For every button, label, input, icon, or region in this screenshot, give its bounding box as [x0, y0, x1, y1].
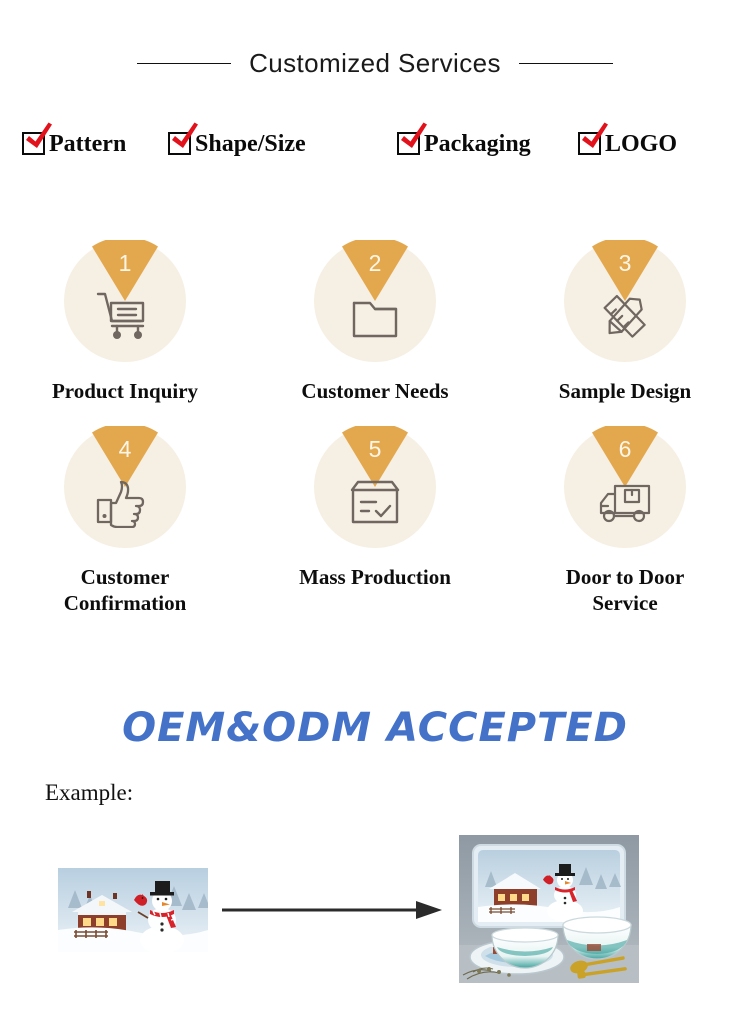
step-sample-design[interactable]: 3 Sam [500, 240, 750, 404]
thumbs-up-icon [95, 476, 155, 528]
result-product-image [459, 835, 639, 983]
step-label-4: Customer Confirmation [64, 564, 187, 616]
step-label-3: Sample Design [559, 378, 691, 404]
step-badge-5: 5 [314, 426, 436, 548]
step-number-3: 3 [564, 252, 686, 275]
option-label-logo: LOGO [605, 132, 677, 156]
step-label-5: Mass Production [299, 564, 451, 590]
option-logo[interactable]: LOGO [578, 132, 677, 156]
option-shape-size[interactable]: Shape/Size [168, 132, 306, 156]
process-steps: 1 Product Inquiry [0, 240, 750, 616]
check-icon [22, 121, 56, 155]
checkbox-pattern[interactable] [22, 132, 45, 155]
step-label-2: Customer Needs [301, 378, 448, 404]
process-steps-row-1: 1 Product Inquiry [0, 240, 750, 404]
folder-icon [345, 290, 405, 342]
option-label-pattern: Pattern [49, 132, 126, 156]
page-header: Customized Services [0, 48, 750, 79]
check-icon [578, 121, 612, 155]
step-label-1: Product Inquiry [52, 378, 198, 404]
step-customer-confirmation[interactable]: 4 Customer Confirmation [0, 426, 250, 616]
option-pattern[interactable]: Pattern [22, 132, 126, 156]
page-title: Customized Services [249, 48, 501, 79]
step-number-6: 6 [564, 438, 686, 461]
option-packaging[interactable]: Packaging [397, 132, 531, 156]
shopping-cart-icon [95, 290, 155, 342]
box-check-icon [345, 476, 405, 528]
source-artwork-image [58, 868, 208, 952]
right-arrow-icon [222, 900, 444, 922]
step-badge-6: 6 [564, 426, 686, 548]
step-number-5: 5 [314, 438, 436, 461]
step-customer-needs[interactable]: 2 Customer Needs [250, 240, 500, 404]
transform-arrow [222, 900, 444, 922]
step-label-6: Door to Door Service [566, 564, 685, 616]
option-label-packaging: Packaging [424, 132, 531, 156]
step-mass-production[interactable]: 5 Mass Production [250, 426, 500, 616]
step-badge-3: 3 [564, 240, 686, 362]
header-rule-left [137, 63, 231, 64]
step-product-inquiry[interactable]: 1 Product Inquiry [0, 240, 250, 404]
step-badge-2: 2 [314, 240, 436, 362]
header-rule-right [519, 63, 613, 64]
step-number-4: 4 [64, 438, 186, 461]
customization-options-row: Pattern Shape/Size Packaging [0, 132, 750, 174]
checkbox-packaging[interactable] [397, 132, 420, 155]
step-number-2: 2 [314, 252, 436, 275]
option-label-shape-size: Shape/Size [195, 132, 306, 156]
check-icon [168, 121, 202, 155]
step-badge-4: 4 [64, 426, 186, 548]
checkbox-shape-size[interactable] [168, 132, 191, 155]
step-door-to-door-service[interactable]: 6 Door to Door Service [500, 426, 750, 616]
pencil-ruler-icon [595, 290, 655, 342]
step-number-1: 1 [64, 252, 186, 275]
step-badge-1: 1 [64, 240, 186, 362]
example-label: Example: [45, 780, 133, 806]
oem-odm-banner: OEM&ODM ACCEPTED [0, 705, 750, 751]
process-steps-row-2: 4 Customer Confirmation 5 [0, 426, 750, 616]
check-icon [397, 121, 431, 155]
delivery-truck-icon [595, 476, 655, 528]
checkbox-logo[interactable] [578, 132, 601, 155]
